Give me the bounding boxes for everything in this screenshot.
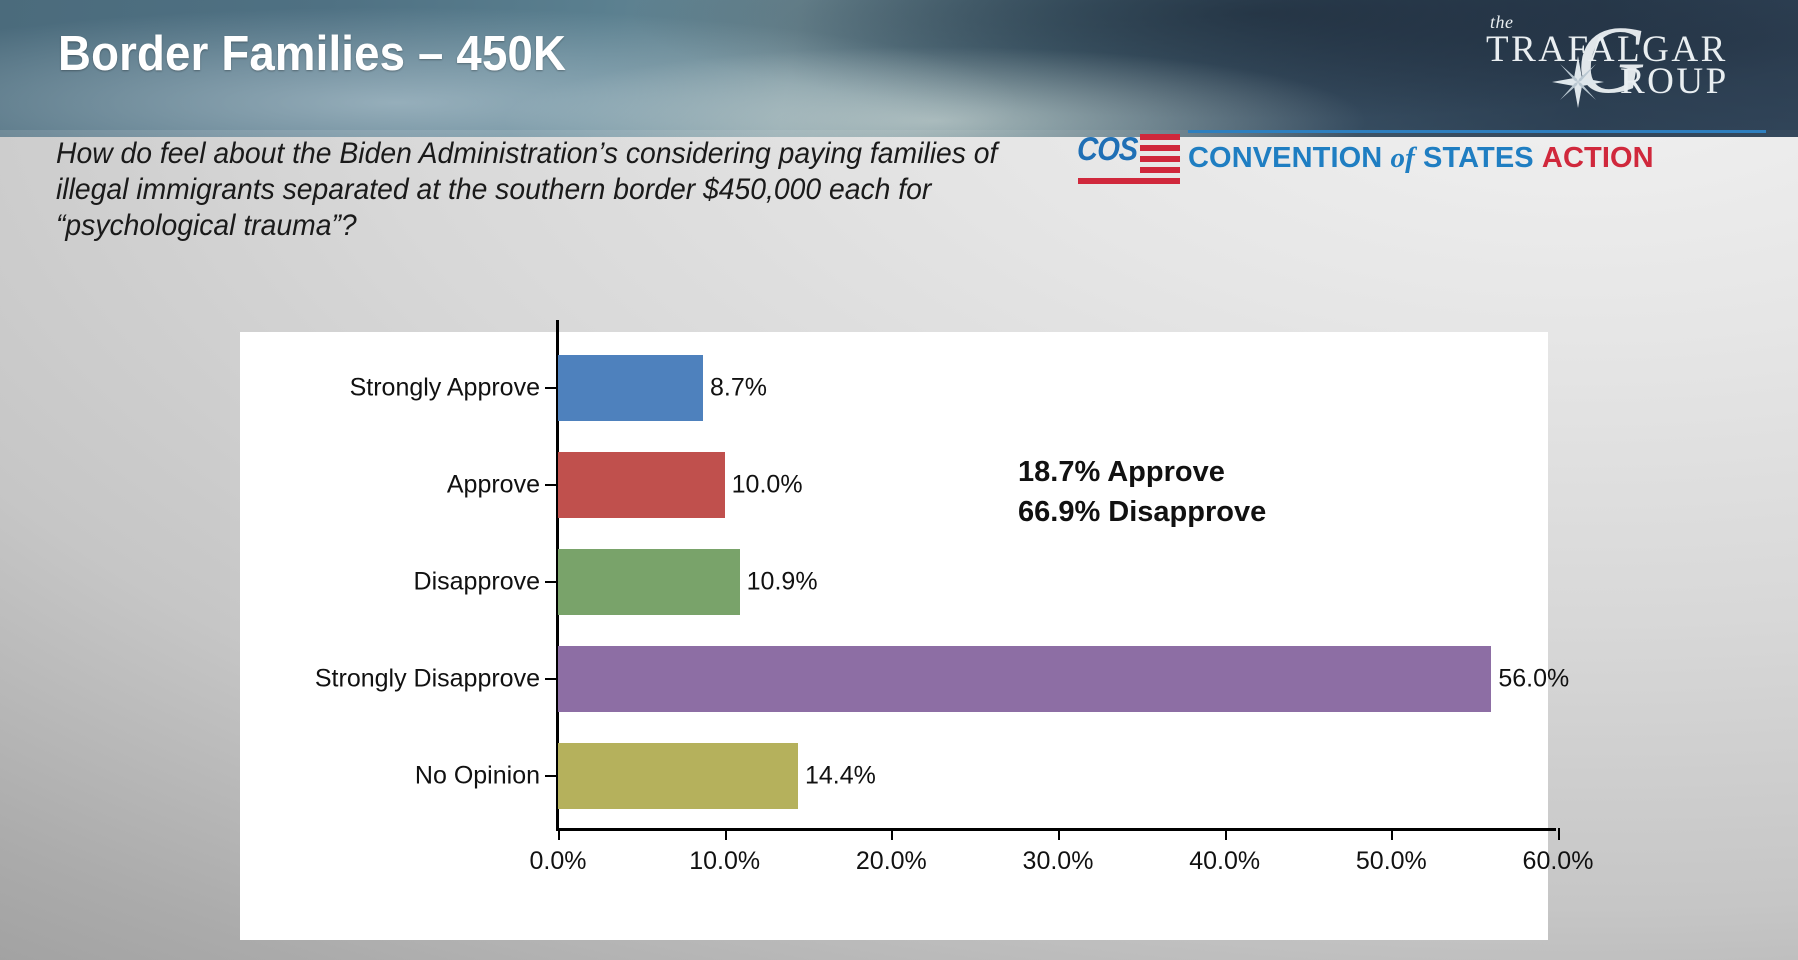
y-axis-tick [545, 678, 556, 680]
y-axis-tick [545, 484, 556, 486]
x-axis-tick-label: 50.0% [1356, 847, 1427, 876]
compass-rose-icon [1550, 54, 1606, 110]
flag-stripe [1140, 167, 1180, 173]
bar-value-label: 10.0% [732, 471, 803, 500]
trafalgar-group-logo: the TRAFALGAR G ROUP [1438, 8, 1768, 118]
x-axis-tick [1225, 828, 1227, 840]
annotation-line-disapprove: 66.9% Disapprove [1018, 492, 1266, 532]
page-title: Border Families – 450K [58, 26, 566, 82]
category-label: Strongly Approve [350, 374, 540, 403]
flag-stripe [1140, 145, 1180, 151]
cos-flag-mark: COS [1078, 130, 1180, 188]
category-label: Disapprove [414, 568, 540, 597]
cos-divider-rule [1188, 130, 1766, 133]
bar-strongly-approve [558, 355, 703, 421]
x-axis-tick-label: 60.0% [1523, 847, 1594, 876]
bar-approve [558, 452, 725, 518]
flag-stripe [1078, 178, 1180, 184]
cos-word-convention: CONVENTION [1188, 142, 1382, 174]
x-axis-tick [1058, 828, 1060, 840]
y-axis-tick [545, 775, 556, 777]
cos-letters: COS [1076, 130, 1138, 168]
logo-group-text: ROUP [1620, 60, 1729, 103]
summary-annotation: 18.7% Approve 66.9% Disapprove [1018, 452, 1266, 532]
cos-wordmark: CONVENTION of STATES ACTION [1188, 142, 1654, 175]
x-axis-tick-label: 30.0% [1023, 847, 1094, 876]
bar-value-label: 56.0% [1498, 664, 1569, 693]
bar-strongly-disapprove [558, 646, 1491, 712]
x-axis-tick [725, 828, 727, 840]
header-band: Border Families – 450K the TRAFALGAR G R… [0, 0, 1798, 137]
bar-value-label: 10.9% [747, 568, 818, 597]
x-axis-tick [1391, 828, 1393, 840]
bar-chart: Strongly ApproveApproveDisapproveStrongl… [240, 332, 1548, 940]
bar-value-label: 8.7% [710, 374, 767, 403]
category-label: Approve [447, 471, 540, 500]
x-axis-tick [558, 828, 560, 840]
y-axis-tick [545, 387, 556, 389]
chart-panel: Strongly ApproveApproveDisapproveStrongl… [240, 332, 1548, 940]
annotation-line-approve: 18.7% Approve [1018, 452, 1266, 492]
poll-question: How do feel about the Biden Administrati… [56, 136, 1026, 244]
flag-stripe [1140, 134, 1180, 140]
convention-of-states-logo: COS CONVENTION of STATES ACTION [1078, 128, 1768, 190]
x-axis-tick [891, 828, 893, 840]
bar-value-label: 14.4% [805, 761, 876, 790]
y-axis-tick [545, 581, 556, 583]
x-axis-tick-label: 20.0% [856, 847, 927, 876]
slide-root: Border Families – 450K the TRAFALGAR G R… [0, 0, 1798, 960]
bar-disapprove [558, 549, 740, 615]
category-label: Strongly Disapprove [315, 664, 540, 693]
cos-word-of: of [1391, 142, 1415, 174]
x-axis-line [556, 828, 1556, 831]
flag-stripe [1140, 156, 1180, 162]
cos-word-action: ACTION [1542, 142, 1654, 174]
x-axis-tick [1558, 828, 1560, 840]
bar-no-opinion [558, 743, 798, 809]
cos-word-states: STATES [1423, 142, 1534, 174]
x-axis-tick-label: 10.0% [689, 847, 760, 876]
x-axis-tick-label: 40.0% [1189, 847, 1260, 876]
category-label: No Opinion [415, 761, 540, 790]
x-axis-tick-label: 0.0% [530, 847, 587, 876]
